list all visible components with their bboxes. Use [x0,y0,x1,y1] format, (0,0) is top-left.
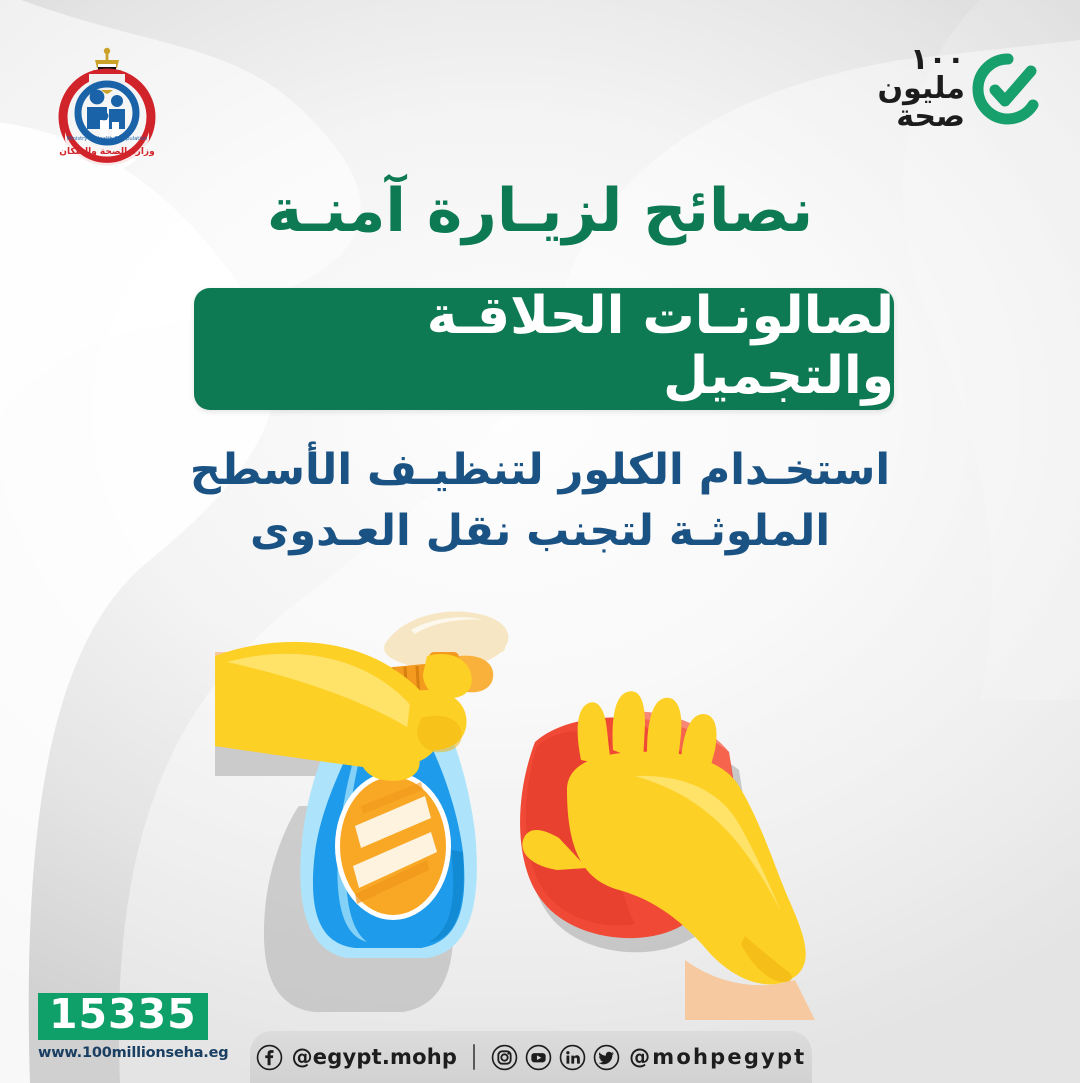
social-divider [473,1044,475,1070]
linkedin-icon[interactable] [559,1044,586,1071]
campaign-logo-100-million-seha: ١٠٠ مليون صحة [845,46,1045,132]
poster-canvas: Ministry of Health & Population وزارة ال… [0,0,1080,1083]
glove-finger-2 [613,691,645,762]
advice-text: استخـدام الكلور لتنظيـف الأسطح الملوثـة … [140,440,940,562]
logo-arabic-text: وزارة الصحة والسكان [59,147,154,157]
page-title: نصائح لزيـارة آمنـة [0,176,1080,246]
check-circle-icon [971,52,1045,126]
advice-text-line1: استخـدام الكلور لتنظيـف الأسطح [140,440,940,501]
social-icon-group [491,1044,620,1071]
campaign-logo-line2: صحة [896,103,965,132]
youtube-icon[interactable] [525,1044,552,1071]
cleaning-illustration [215,600,875,1030]
subtitle-banner-label: لصالونـات الحلاقـة والتجميل [194,286,894,412]
facebook-icon[interactable] [256,1044,283,1071]
twitter-icon[interactable] [593,1044,620,1071]
red-cloth-and-glove-group [520,691,815,1020]
facebook-handle[interactable]: @egypt.mohp [292,1045,458,1069]
advice-text-line2: الملوثـة لتجنب نقل العـدوى [140,501,940,562]
spray-bottle-and-glove-group [215,612,508,1012]
campaign-logo-line1: ١٠٠ مليون [845,46,965,103]
nozzle-tip [483,636,505,652]
social-media-bar: @egypt.mohp [250,1031,812,1083]
instagram-icon[interactable] [491,1044,518,1071]
general-social-handle[interactable]: @mohpegypt [629,1045,806,1069]
hotline-block: 15335 www.100millionseha.eg [38,993,208,1061]
hotline-number: 15335 [38,993,208,1040]
campaign-logo-text: ١٠٠ مليون صحة [845,46,965,132]
ministry-of-health-logo: Ministry of Health & Population وزارة ال… [45,44,169,169]
subtitle-banner: لصالونـات الحلاقـة والتجميل [194,288,894,410]
hotline-website[interactable]: www.100millionseha.eg [38,1045,208,1061]
logo-english-text: Ministry of Health & Population [67,136,148,142]
